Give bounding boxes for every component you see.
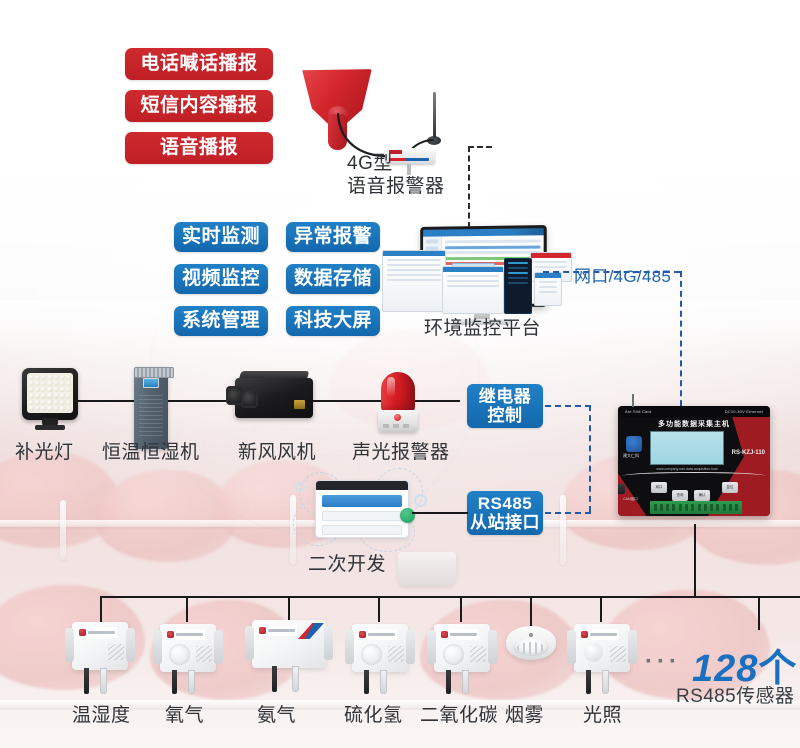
sensor-drop-3 <box>288 596 290 622</box>
secondary-window-icon <box>442 266 504 314</box>
laptop-window-icon <box>382 250 446 312</box>
sensor-capacity-caption: RS485传感器 <box>676 681 794 708</box>
sensor-illuminance <box>574 624 630 672</box>
sensor-label-temp-humidity: 温湿度 <box>72 700 131 727</box>
btn-line1: 网口 <box>656 486 663 490</box>
sensor-label-illuminance: 光照 <box>583 700 622 727</box>
sensor-drop-more <box>758 596 760 630</box>
sensor-drop-4 <box>378 596 380 622</box>
probe-tube <box>380 670 387 694</box>
pen-post <box>60 500 66 560</box>
probe-cable <box>272 666 277 692</box>
gear-icon <box>414 494 427 507</box>
gateway-terminal-block <box>650 501 742 514</box>
gateway-can-jack <box>618 484 625 494</box>
antenna-icon <box>433 92 436 138</box>
rs485-slave-button[interactable]: RS485 从站接口 <box>467 491 543 535</box>
pen-post <box>560 495 566 565</box>
dash-4g-to-platform-h <box>468 146 492 148</box>
gateway-title: 多功能数据采集主机 <box>618 419 770 429</box>
sensor-smoke <box>506 626 556 660</box>
pig-shape <box>96 470 236 562</box>
btn-line1: 查询 <box>677 494 684 498</box>
sensor-oxygen <box>160 624 216 672</box>
probe-cable <box>84 668 89 694</box>
device-label-fill-light: 补光灯 <box>15 437 74 464</box>
gateway-button-confirm[interactable]: 确认 <box>694 490 710 501</box>
gateway-jack-label: CAN接口 <box>623 497 638 502</box>
probe-cable <box>172 670 177 694</box>
browser-window-icon <box>315 480 409 538</box>
gateway-button-query[interactable]: 查询 <box>672 490 688 501</box>
gateway-lcd-screen <box>650 431 724 465</box>
gateway-lcd-subtext: www.company.com data-acquisition-host <box>650 467 724 471</box>
btn-line1: 复位 <box>727 486 734 490</box>
probe-tube <box>188 670 195 694</box>
beacon-base-icon <box>378 410 418 432</box>
fan-port-icon <box>241 389 258 408</box>
feed-trough <box>398 552 456 586</box>
rs485-line1: RS485 <box>478 494 532 513</box>
probe-cable <box>364 670 369 694</box>
sensor-ammonia <box>252 620 326 668</box>
sensor-capacity-ellipsis: ··· <box>645 648 681 676</box>
sensor-label-oxygen: 氧气 <box>165 700 204 727</box>
device-label-alarm: 声光报警器 <box>352 437 450 464</box>
data-acquisition-gateway: Ant SIM Card DC10-30V Ethernet 多功能数据采集主机… <box>618 406 770 516</box>
led-panel-icon <box>22 368 78 420</box>
gateway-top-right-label: DC10-30V Ethernet <box>725 409 763 414</box>
sensor-drop-7 <box>600 596 602 622</box>
probe-tube <box>602 670 609 694</box>
gateway-button-network[interactable]: 网口 <box>651 482 667 493</box>
probe-cable <box>446 670 451 694</box>
sensor-temperature-humidity <box>72 622 128 670</box>
diagram-canvas: 电话喊话播报 短信内容播报 语音播报 4G型 语音报警器 实时监测 异常报警 视… <box>0 0 800 748</box>
network-label: 网口/4G/485 <box>574 262 671 287</box>
beacon-led-icon <box>394 414 401 421</box>
gateway-antenna-icon <box>632 394 634 407</box>
module-probe-icon <box>407 164 411 175</box>
alarm-action-sms[interactable]: 短信内容播报 <box>125 90 273 122</box>
sensor-label-ammonia: 氨气 <box>257 700 296 727</box>
search-icon <box>295 482 305 492</box>
feature-video-surveillance[interactable]: 视频监控 <box>174 264 268 294</box>
module-stripe-icon <box>389 158 429 161</box>
sensor-drop-1 <box>100 596 102 622</box>
relay-control-button[interactable]: 继电器 控制 <box>467 384 543 428</box>
sensor-drop-5 <box>460 596 462 622</box>
gateway-top-strip: Ant SIM Card DC10-30V Ethernet <box>618 406 770 417</box>
pig-shape <box>0 452 120 548</box>
feature-tech-dashboard[interactable]: 科技大屏 <box>286 306 380 336</box>
device-label-hvac: 恒温恒湿机 <box>102 437 200 464</box>
probe-tube <box>292 666 299 692</box>
dash-4g-to-platform-v <box>468 146 470 228</box>
rs485-line2: 从站接口 <box>470 513 540 532</box>
sensor-drop-2 <box>186 596 188 622</box>
btn-line1: 确认 <box>699 494 706 498</box>
feature-abnormal-alarm[interactable]: 异常报警 <box>286 222 380 252</box>
feature-realtime-monitoring[interactable]: 实时监测 <box>174 222 268 252</box>
network-dash-right <box>680 271 682 426</box>
sensor-bus-line <box>100 596 800 598</box>
sensor-label-smoke: 烟雾 <box>505 700 544 727</box>
relay-line1: 继电器 <box>479 387 532 406</box>
relay-line2: 控制 <box>488 406 523 425</box>
hvac-display-icon <box>143 378 159 388</box>
probe-tube <box>100 668 107 694</box>
beacon-dome-icon <box>381 372 415 412</box>
gateway-divider <box>622 472 766 480</box>
feature-data-storage[interactable]: 数据存储 <box>286 264 380 294</box>
sensor-label-co2: 二氧化碳 <box>420 700 498 727</box>
phone-window-icon <box>534 272 562 306</box>
gateway-button-reset[interactable]: 复位 <box>722 482 738 493</box>
relay-dash-h2 <box>545 512 591 514</box>
relay-dash-v <box>589 405 591 512</box>
certified-badge-icon <box>400 508 415 523</box>
led-shoe-icon <box>35 425 65 430</box>
alarm-action-voice[interactable]: 语音播报 <box>125 132 273 164</box>
sensor-drop-6 <box>530 596 532 626</box>
platform-caption: 环境监控平台 <box>424 313 541 340</box>
secondary-dev-caption: 二次开发 <box>308 549 386 576</box>
gateway-downlink <box>694 524 696 596</box>
sensor-label-h2s: 硫化氢 <box>344 700 403 727</box>
fan-chip-icon <box>294 400 305 409</box>
alarm-action-phone[interactable]: 电话喊话播报 <box>125 48 273 80</box>
gateway-brand-text: 建大仁科 <box>623 453 639 459</box>
hvac-vents-icon <box>139 395 163 439</box>
device-label-fan: 新风风机 <box>238 437 316 464</box>
beacon-slots-icon <box>383 424 413 428</box>
probe-tube <box>462 670 469 694</box>
gateway-top-left-label: Ant SIM Card <box>625 409 651 414</box>
relay-dash-h <box>545 405 591 407</box>
sensor-carbon-dioxide <box>434 624 490 672</box>
probe-cable <box>586 670 591 694</box>
hvac-grille-icon <box>134 367 174 378</box>
gateway-model-number: RS-KZJ-110 <box>732 450 765 456</box>
sensor-hydrogen-sulfide <box>352 624 408 672</box>
dev-to-rs485-line <box>412 512 468 514</box>
gateway-brand-logo-icon <box>626 436 642 452</box>
feature-system-management[interactable]: 系统管理 <box>174 306 268 336</box>
dark-dashboard-icon <box>504 258 532 314</box>
